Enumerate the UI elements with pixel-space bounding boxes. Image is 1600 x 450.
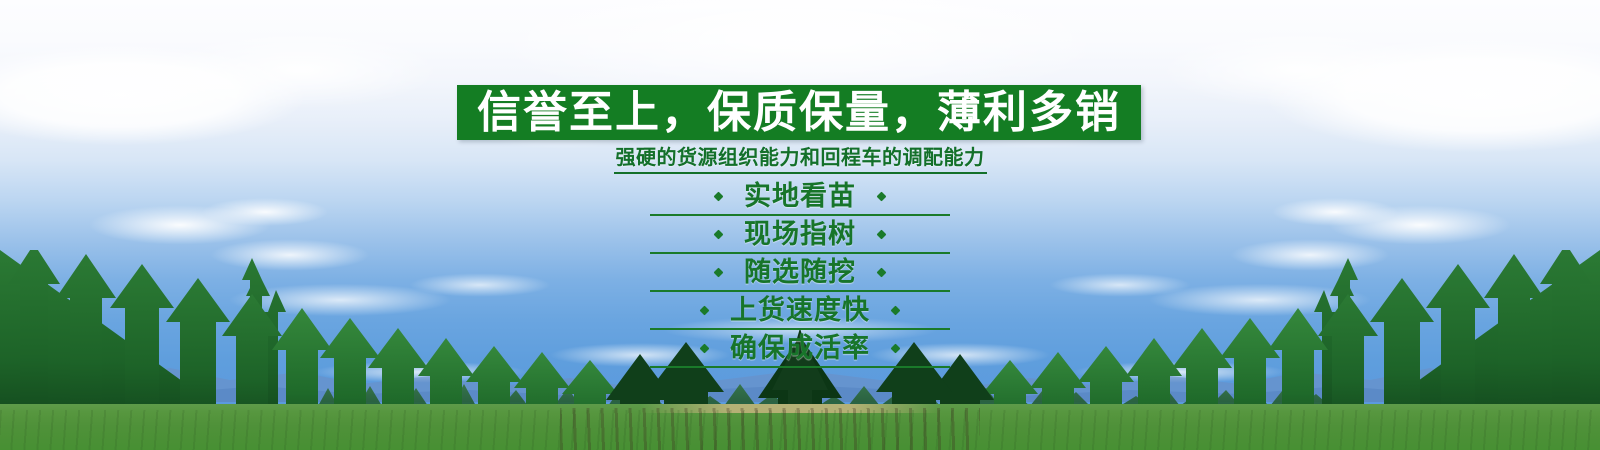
- feature-item: 随选随挖: [650, 254, 950, 292]
- headline-text: 信誉至上，保质保量，薄利多销: [457, 85, 1141, 140]
- feature-item: 确保成活率: [650, 330, 950, 368]
- feature-item: 现场指树: [650, 216, 950, 254]
- bullet-dot-icon: [891, 305, 901, 315]
- bullet-dot-icon: [714, 267, 724, 277]
- feature-label: 上货速度快: [730, 293, 870, 327]
- bullet-dot-icon: [700, 305, 710, 315]
- headline-banner: 信誉至上，保质保量，薄利多销: [457, 85, 1141, 140]
- field-center-furrows: [560, 408, 980, 450]
- bullet-dot-icon: [714, 229, 724, 239]
- feature-label: 确保成活率: [730, 331, 870, 365]
- bullet-dot-icon: [877, 191, 887, 201]
- bullet-dot-icon: [877, 229, 887, 239]
- feature-item: 实地看苗: [650, 178, 950, 216]
- feature-item: 上货速度快: [650, 292, 950, 330]
- bullet-dot-icon: [877, 267, 887, 277]
- bullet-dot-icon: [700, 343, 710, 353]
- subtitle-row: 强硬的货源组织能力和回程车的调配能力: [0, 146, 1600, 174]
- feature-label: 随选随挖: [744, 255, 856, 289]
- subtitle-text: 强硬的货源组织能力和回程车的调配能力: [614, 146, 987, 174]
- feature-label: 现场指树: [744, 217, 856, 251]
- bullet-dot-icon: [891, 343, 901, 353]
- bullet-dot-icon: [714, 191, 724, 201]
- promotional-banner: 信誉至上，保质保量，薄利多销 强硬的货源组织能力和回程车的调配能力 实地看苗 现…: [0, 0, 1600, 450]
- feature-label: 实地看苗: [744, 179, 856, 213]
